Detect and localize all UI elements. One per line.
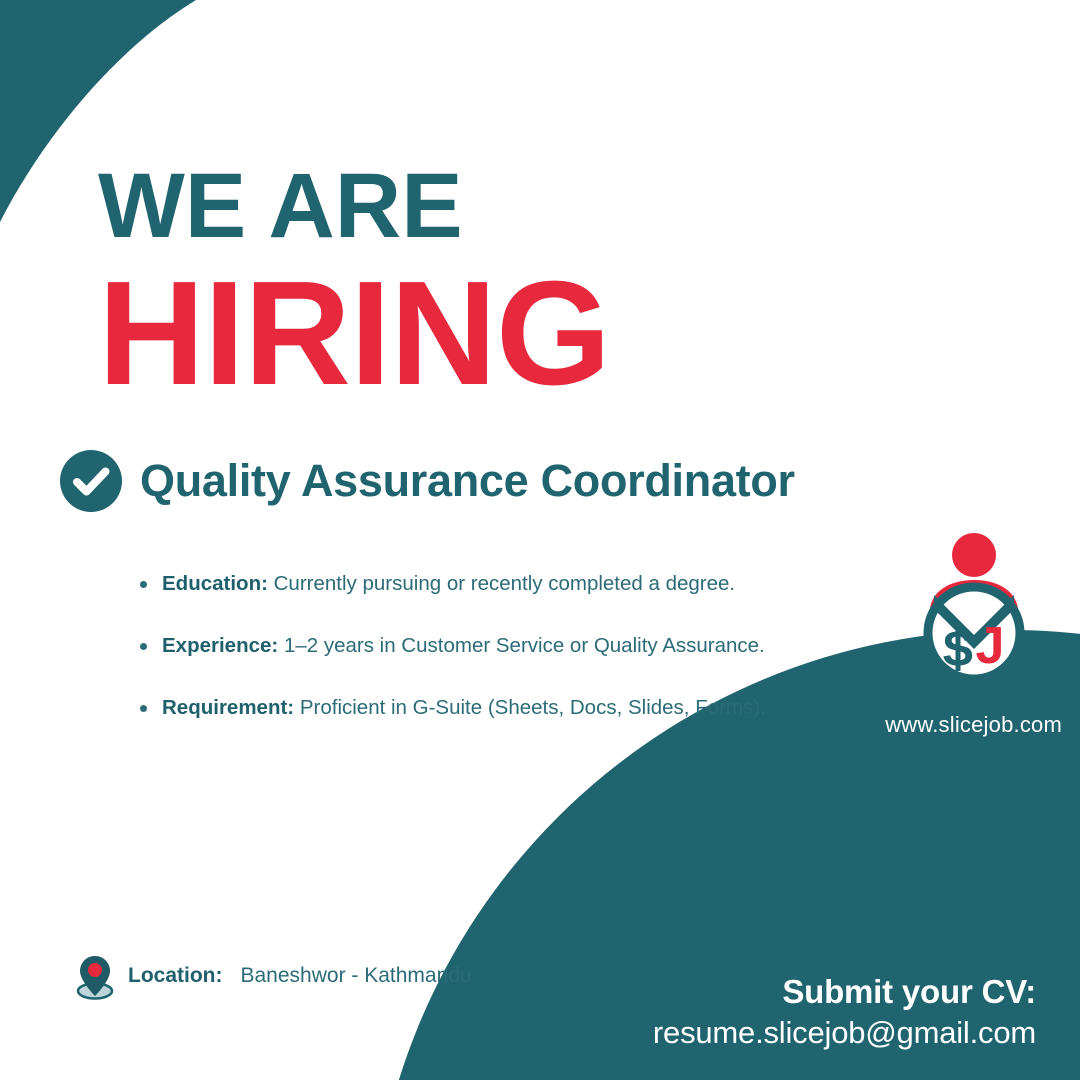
job-poster: WE ARE HIRING Quality Assurance Coordina… (0, 0, 1080, 1080)
bullet-dot-icon (140, 705, 147, 712)
requirement-label: Education: (162, 572, 268, 595)
check-circle-icon (60, 450, 122, 512)
requirement-label: Experience: (162, 634, 278, 657)
job-title-row: Quality Assurance Coordinator (60, 450, 795, 512)
list-item: Education: Currently pursuing or recentl… (134, 570, 894, 598)
logo-monogram-j: J (976, 617, 1005, 675)
requirements-list: Education: Currently pursuing or recentl… (134, 570, 894, 722)
website-url[interactable]: www.slicejob.com (700, 712, 1062, 738)
map-pin-icon (72, 952, 118, 1000)
requirement-text: 1–2 years in Customer Service or Quality… (284, 634, 765, 657)
requirement-text: Proficient in G-Suite (Sheets, Docs, Sli… (300, 696, 766, 719)
headline: WE ARE HIRING (98, 160, 918, 404)
submit-cv-block: Submit your CV: resume.slicejob@gmail.co… (653, 972, 1036, 1054)
location-value: Baneshwor - Kathmandu (233, 964, 472, 988)
requirement-label: Requirement: (162, 696, 294, 719)
bullet-dot-icon (140, 643, 147, 650)
headline-line-hiring: HIRING (98, 252, 918, 404)
submit-cv-title: Submit your CV: (653, 972, 1036, 1012)
location-label: Location: (128, 964, 223, 988)
requirement-text: Currently pursuing or recently completed… (274, 572, 736, 595)
headline-line-we-are: WE ARE (98, 160, 918, 252)
bullet-dot-icon (140, 581, 147, 588)
page-title: Quality Assurance Coordinator (140, 456, 795, 506)
slicejob-logo-icon: S J (910, 533, 1038, 688)
submit-cv-email[interactable]: resume.slicejob@gmail.com (653, 1012, 1036, 1054)
location-row: Location: Baneshwor - Kathmandu (72, 952, 472, 1000)
list-item: Experience: 1–2 years in Customer Servic… (134, 632, 894, 660)
